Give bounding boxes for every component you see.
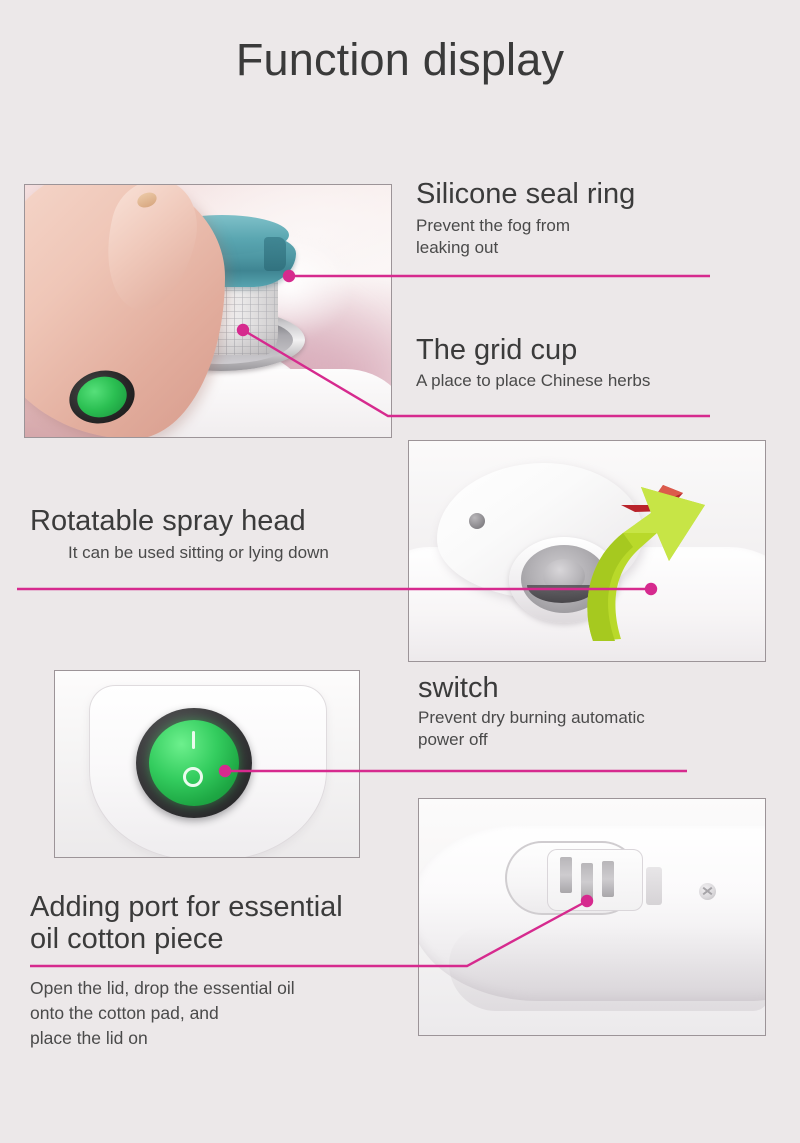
callout-title: Adding port for essential oil cotton pie… <box>30 891 343 956</box>
callout-subtitle: It can be used sitting or lying down <box>68 542 329 564</box>
callout-rotatable-spray-head: Rotatable spray head It can be used sitt… <box>30 505 329 564</box>
infographic-page: Function display <box>0 0 800 1143</box>
pivot-screw <box>469 513 485 529</box>
callout-subtitle: Open the lid, drop the essential oil ont… <box>30 976 343 1051</box>
callout-title: The grid cup <box>416 334 650 366</box>
callout-title: Silicone seal ring <box>416 178 635 210</box>
vent-slot <box>560 857 572 893</box>
callout-adding-port-for-essential-oil-cotton-piece: Adding port for essential oil cotton pie… <box>30 891 343 1050</box>
hand-grid-cup-photo <box>24 184 392 438</box>
switch-on-mark-icon <box>192 731 195 749</box>
device-body-shadow <box>449 925 766 1011</box>
silicone-seal-ring-notch <box>264 237 286 271</box>
vent-slot <box>602 861 614 897</box>
callout-the-grid-cup: The grid cup A place to place Chinese he… <box>416 334 650 392</box>
switch-off-mark-icon <box>183 767 203 787</box>
callout-switch: switch Prevent dry burning automatic pow… <box>418 672 645 751</box>
screw-icon <box>699 883 716 900</box>
rotatable-spray-head-photo <box>408 440 766 662</box>
power-switch-photo <box>54 670 360 858</box>
oil-port-photo <box>418 798 766 1036</box>
callout-subtitle: Prevent dry burning automatic power off <box>418 707 645 751</box>
page-title: Function display <box>0 34 800 86</box>
callout-silicone-seal-ring: Silicone seal ring Prevent the fog from … <box>416 178 635 259</box>
callout-title: switch <box>418 672 645 704</box>
callout-title: Rotatable spray head <box>30 505 329 537</box>
rotation-arrow-icon <box>577 475 727 645</box>
callout-subtitle: Prevent the fog from leaking out <box>416 215 635 259</box>
callout-subtitle: A place to place Chinese herbs <box>416 370 650 392</box>
lid-tab <box>646 867 662 905</box>
vent-slot <box>581 863 593 901</box>
